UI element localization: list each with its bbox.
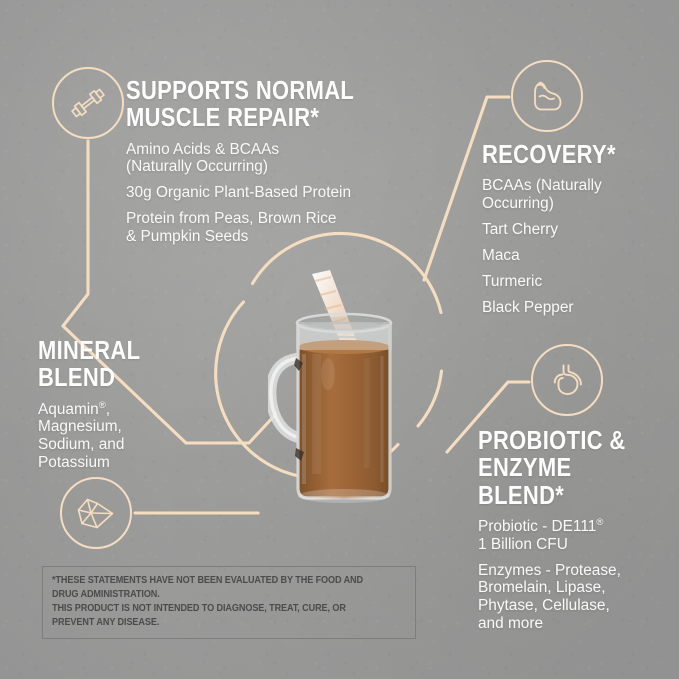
panel-recovery: RECOVERY* BCAAs (Naturally Occurring) Ta… xyxy=(482,142,662,316)
panel-muscle-repair: SUPPORTS NORMAL MUSCLE REPAIR* Amino Aci… xyxy=(126,78,426,246)
panel-mineral-ingredients: Aquamin®, Magnesium, Sodium, and Potassi… xyxy=(38,401,208,472)
registered-mark-icon: ® xyxy=(596,517,603,528)
panel-probiotic-heading: PROBIOTIC & ENZYME BLEND* xyxy=(478,428,647,510)
infographic-canvas: SUPPORTS NORMAL MUSCLE REPAIR* Amino Aci… xyxy=(0,0,679,679)
crystal-icon xyxy=(74,493,118,533)
panel-probiotic-cfu: 1 Billion CFU xyxy=(478,536,568,553)
panel-muscle-line-3: Protein from Peas, Brown Rice & Pumpkin … xyxy=(126,210,426,246)
ring-arc-right xyxy=(418,371,442,426)
disclaimer-box: *THESE STATEMENTS HAVE NOT BEEN EVALUATE… xyxy=(42,566,416,639)
mason-jar-protein-shake xyxy=(268,262,420,510)
panel-probiotic-line-1: Probiotic - DE111® 1 Billion CFU xyxy=(478,518,674,554)
panel-mineral-heading: MINERAL BLEND xyxy=(38,338,184,393)
jar-handle xyxy=(271,358,300,438)
jar-neck xyxy=(296,314,392,350)
registered-mark-icon: ® xyxy=(99,399,106,410)
crystal-icon-bubble xyxy=(60,477,132,549)
panel-muscle-line-1: Amino Acids & BCAAs (Naturally Occurring… xyxy=(126,141,426,177)
panel-recovery-line-5: Black Pepper xyxy=(482,299,662,317)
panel-muscle-line-2: 30g Organic Plant-Based Protein xyxy=(126,184,426,202)
dumbbell-icon xyxy=(66,81,110,125)
bicep-icon-bubble xyxy=(511,60,583,132)
panel-probiotic-de111: Probiotic - DE111 xyxy=(478,518,596,535)
panel-recovery-line-1: BCAAs (Naturally Occurring) xyxy=(482,177,662,213)
panel-mineral-blend: MINERAL BLEND Aquamin®, Magnesium, Sodiu… xyxy=(38,338,208,472)
stomach-icon-bubble xyxy=(531,344,603,416)
dumbbell-icon-bubble xyxy=(52,67,124,139)
product-image xyxy=(268,262,420,510)
bicep-icon xyxy=(526,75,568,117)
panel-recovery-line-2: Tart Cherry xyxy=(482,221,662,239)
stomach-icon xyxy=(546,359,588,401)
panel-recovery-heading: RECOVERY* xyxy=(482,142,637,169)
panel-recovery-line-3: Maca xyxy=(482,247,662,265)
panel-recovery-line-4: Turmeric xyxy=(482,273,662,291)
disclaimer-text: *THESE STATEMENTS HAVE NOT BEEN EVALUATE… xyxy=(52,574,371,630)
panel-mineral-aquamin: Aquamin xyxy=(38,401,99,418)
panel-muscle-heading: SUPPORTS NORMAL MUSCLE REPAIR* xyxy=(126,78,384,133)
panel-probiotic-line-2: Enzymes - Protease, Bromelain, Lipase, P… xyxy=(478,562,674,633)
panel-probiotic-enzyme-blend: PROBIOTIC & ENZYME BLEND* Probiotic - DE… xyxy=(478,428,674,633)
